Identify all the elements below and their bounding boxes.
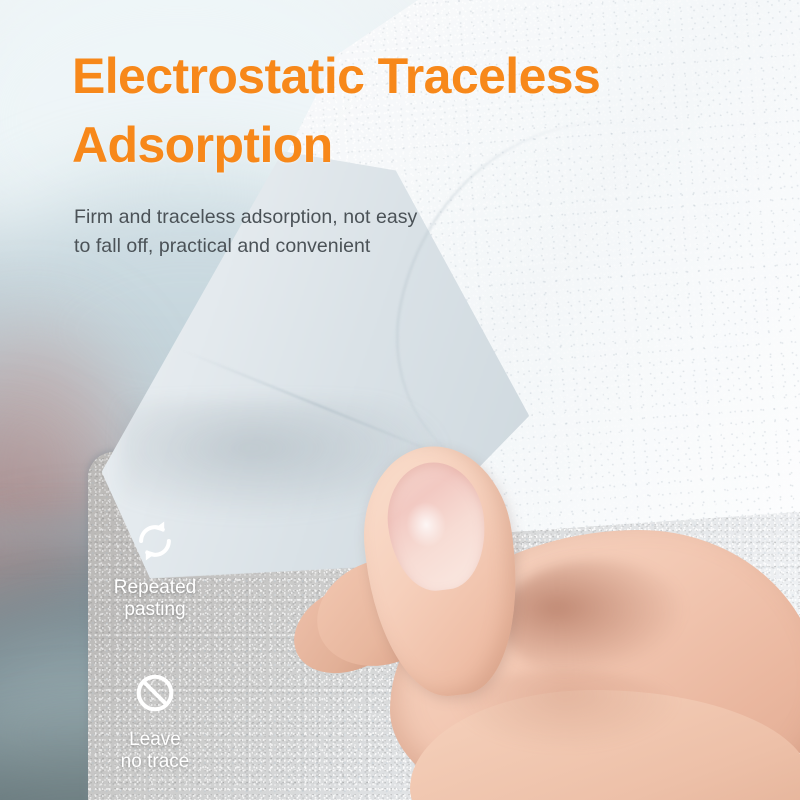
product-description: Firm and traceless adsorption, not easy … [74, 203, 424, 261]
prohibited-icon [85, 670, 225, 721]
refresh-cycle-icon [85, 518, 225, 569]
product-headline: Electrostatic Traceless Adsorption [72, 42, 732, 180]
feature-label-line-2: pasting [85, 599, 225, 621]
hand-peeling-film [300, 440, 800, 800]
feature-label-line-1: Repeated [85, 577, 225, 599]
feature-label-line-1: Leave [85, 729, 225, 751]
feature-leave-no-trace: Leave no trace [85, 670, 225, 774]
headline-line-1: Electrostatic Traceless [72, 48, 600, 104]
headline-line-2: Adsorption [72, 111, 732, 180]
feature-label-line-2: no trace [85, 751, 225, 773]
hand-knuckle-shadow [500, 560, 690, 680]
product-marketing-image: Electrostatic Traceless Adsorption Firm … [0, 0, 800, 800]
feature-repeated-pasting: Repeated pasting [85, 518, 225, 622]
